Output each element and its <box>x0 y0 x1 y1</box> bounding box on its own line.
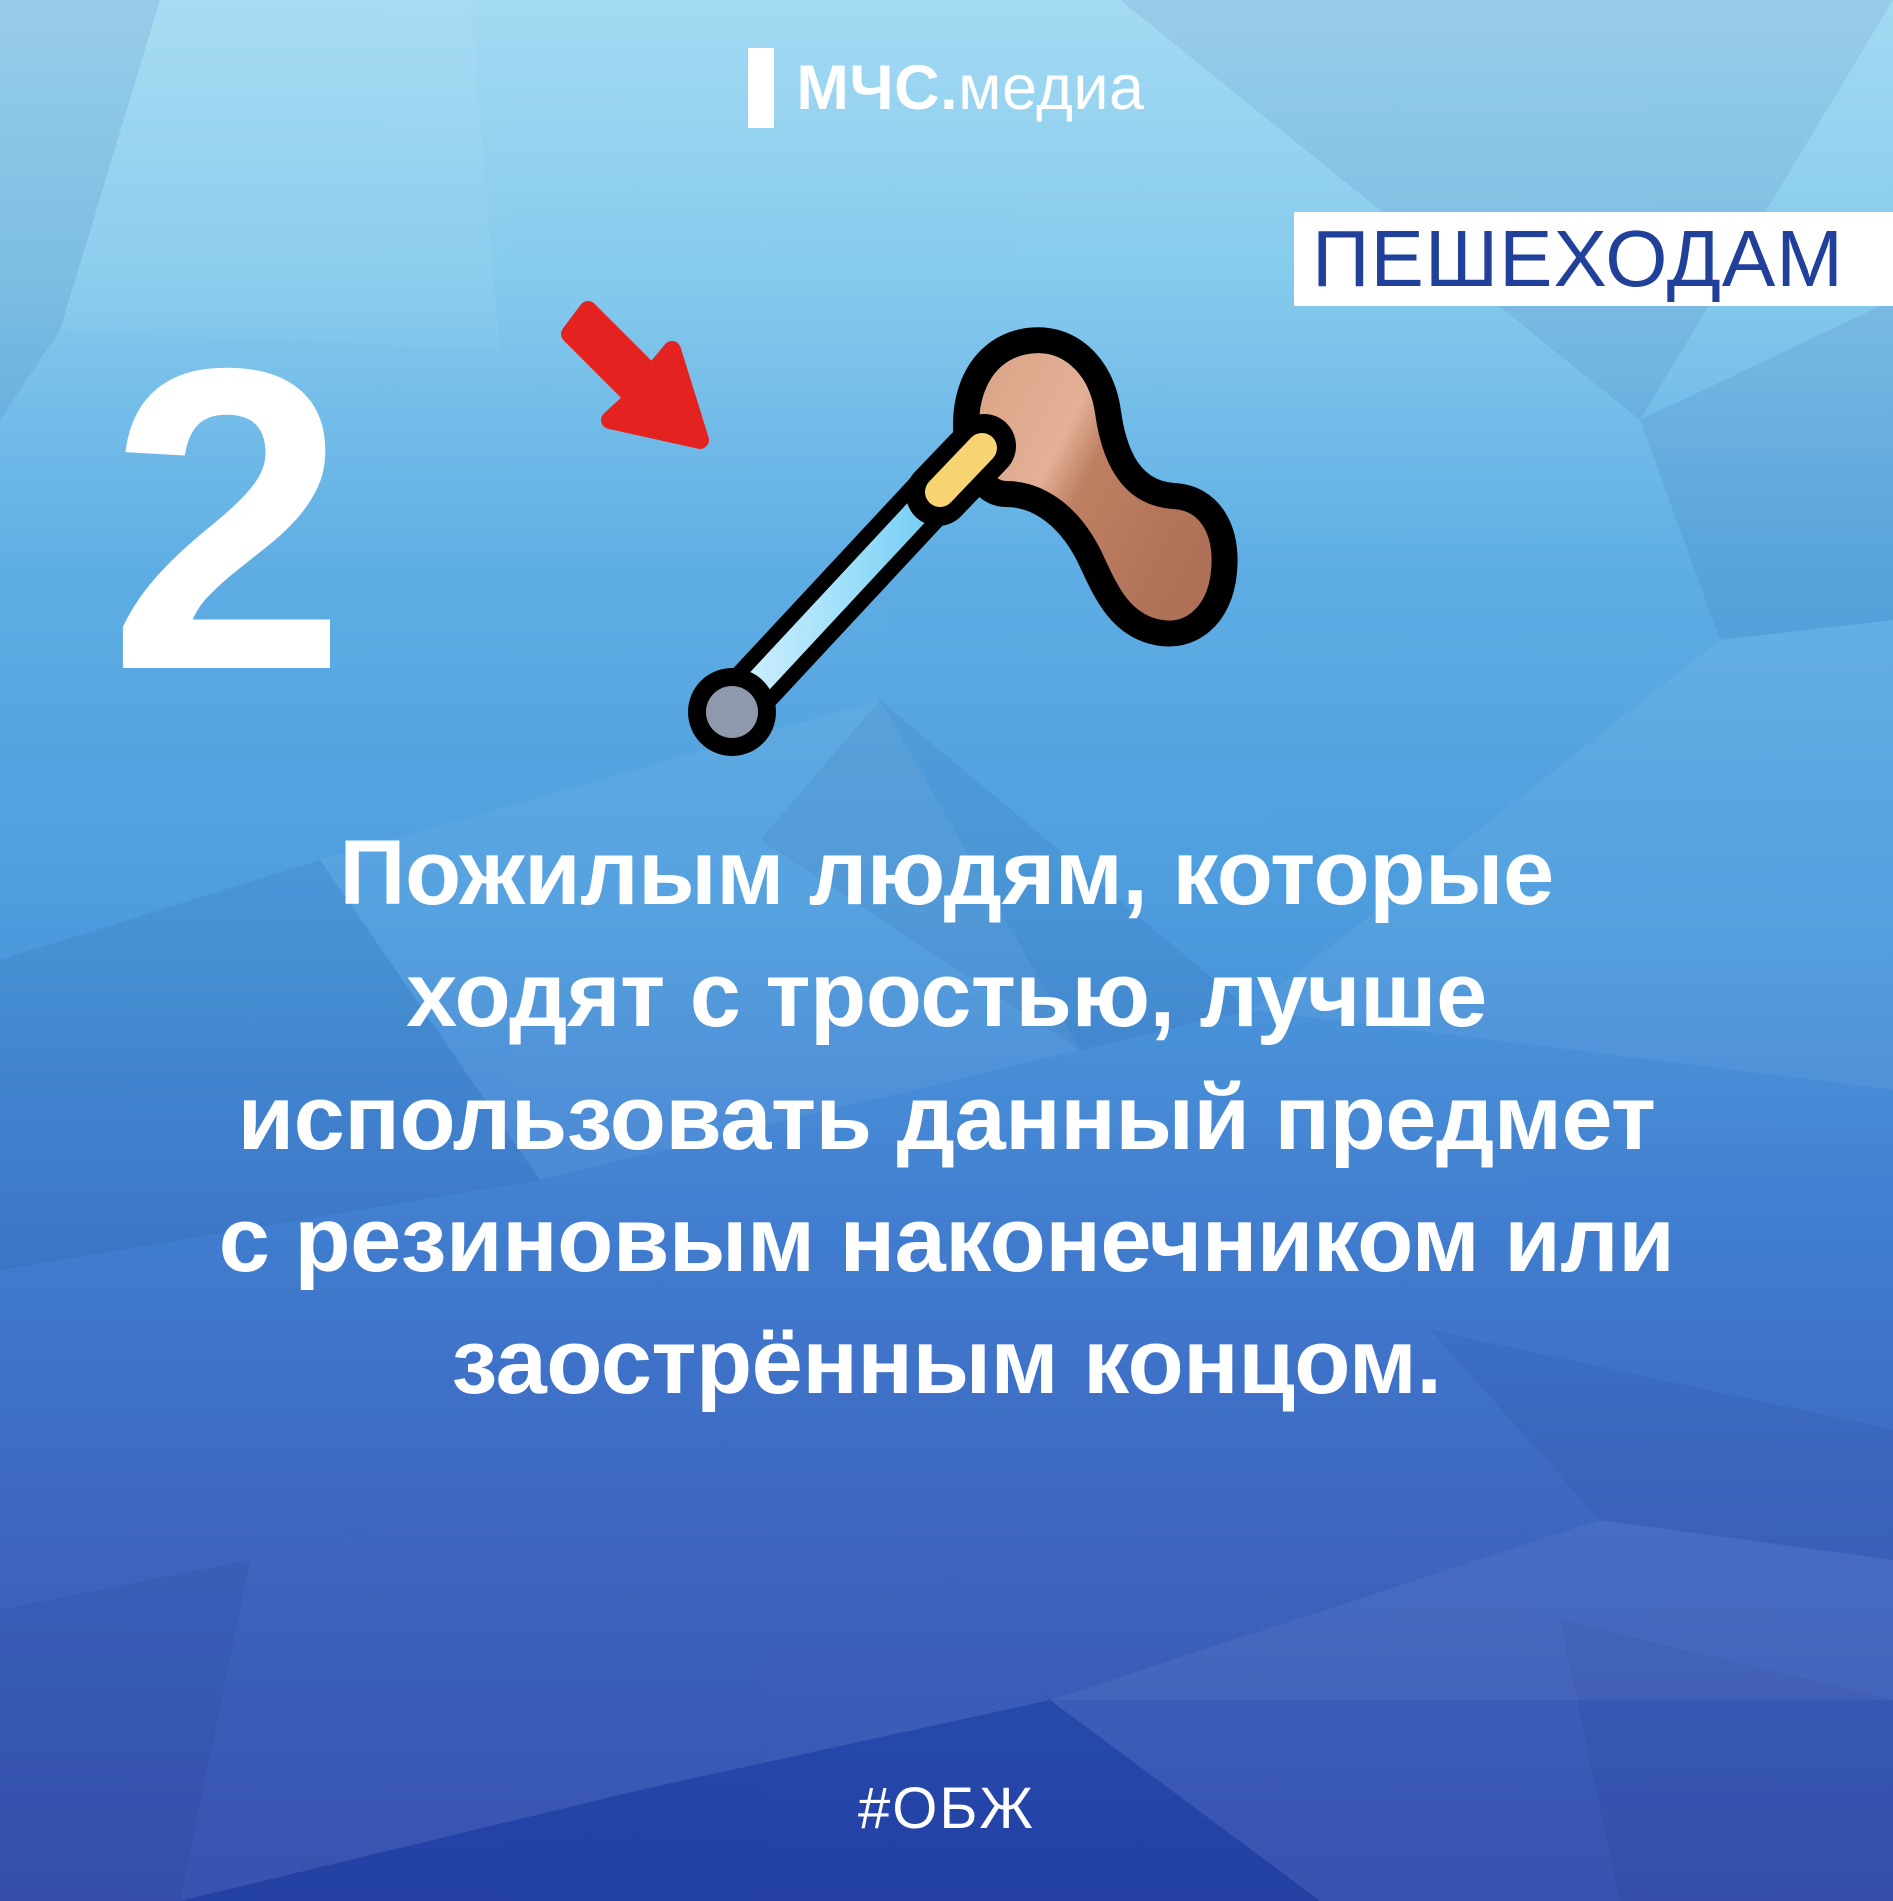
brand-name: МЧС.медиа <box>796 57 1144 120</box>
hashtag-label: #ОБЖ <box>0 1775 1893 1842</box>
body-copy: Пожилым людям, которые ходят с тростью, … <box>90 812 1803 1424</box>
infographic-card: МЧС.медиа ПЕШЕХОДАМ 2 <box>0 0 1893 1901</box>
body-line: ходят с тростью, лучше <box>90 934 1803 1056</box>
brand-name-light: медиа <box>958 53 1144 123</box>
category-badge: ПЕШЕХОДАМ <box>1294 212 1893 306</box>
walking-cane-illustration <box>560 280 1260 800</box>
cane-collar-band <box>938 446 984 494</box>
body-line: с резиновым наконечником или <box>90 1179 1803 1301</box>
body-line: использовать данный предмет <box>90 1057 1803 1179</box>
step-number: 2 <box>108 305 341 735</box>
brand-logo: МЧС.медиа <box>0 48 1893 128</box>
cane-rubber-tip <box>688 668 776 756</box>
cane-handle <box>966 340 1225 633</box>
category-badge-label: ПЕШЕХОДАМ <box>1312 219 1844 299</box>
vertical-bar-icon <box>748 48 774 128</box>
brand-name-strong: МЧС. <box>796 53 958 123</box>
body-line: Пожилым людям, которые <box>90 812 1803 934</box>
body-line: заострённым концом. <box>90 1301 1803 1423</box>
red-arrow-down-right-icon <box>570 310 700 440</box>
